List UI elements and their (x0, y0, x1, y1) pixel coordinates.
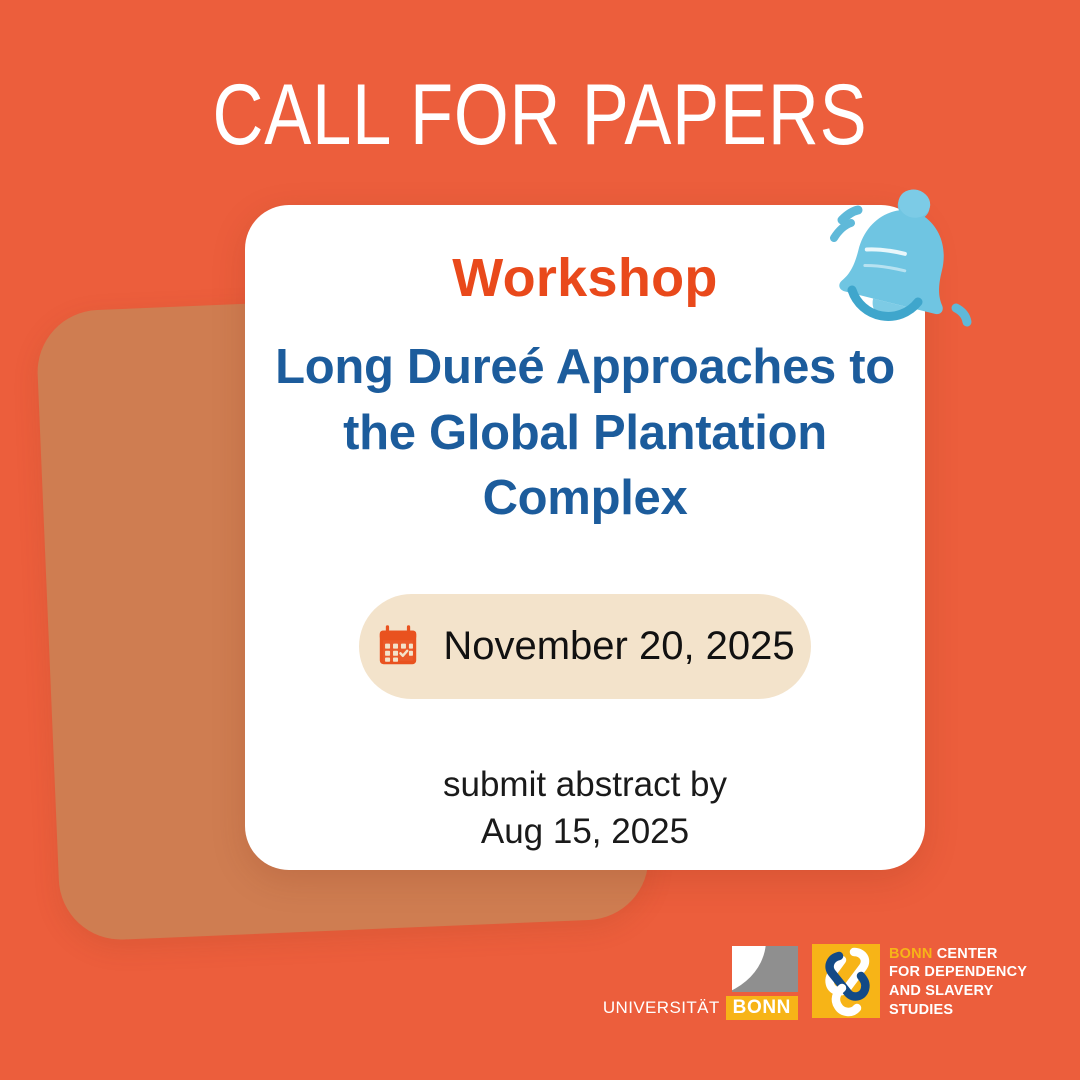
university-name-text: UNIVERSITÄT (603, 996, 726, 1020)
university-city-text: BONN (726, 996, 798, 1020)
workshop-title: Long Dureé Approaches to the Global Plan… (265, 335, 905, 532)
workshop-eyebrow: Workshop (452, 251, 717, 305)
logo-bar: UNIVERSITÄT BONN BONN CENTER FOR DEPENDE… (640, 934, 1020, 1020)
university-bonn-logo: UNIVERSITÄT BONN (640, 946, 798, 1020)
chain-links-icon (812, 944, 880, 1018)
bcdss-line-1: BONN CENTER (889, 945, 1027, 964)
date-badge: November 20, 2025 (359, 594, 811, 699)
poster-canvas: CALL FOR PAPERS Workshop Long Dureé Appr… (0, 0, 1080, 1080)
bcdss-line-2: FOR DEPENDENCY (889, 963, 1027, 982)
calendar-icon (375, 623, 421, 669)
bcdss-logo: BONN CENTER FOR DEPENDENCY AND SLAVERY S… (812, 944, 1027, 1020)
university-bonn-wordmark: UNIVERSITÄT BONN (603, 996, 798, 1020)
card-content: Workshop Long Dureé Approaches to the Gl… (245, 205, 925, 870)
bcdss-line-3: AND SLAVERY (889, 982, 1027, 1001)
submission-deadline: submit abstract by Aug 15, 2025 (443, 761, 727, 856)
bcdss-center-word: CENTER (933, 946, 998, 962)
page-title: CALL FOR PAPERS (97, 72, 983, 158)
event-date: November 20, 2025 (443, 624, 794, 669)
deadline-date: Aug 15, 2025 (443, 808, 727, 855)
bcdss-line-4: STUDIES (889, 1001, 1027, 1020)
bcdss-bonn-word: BONN (889, 946, 933, 962)
university-bonn-mark-icon (732, 946, 798, 992)
deadline-label: submit abstract by (443, 761, 727, 808)
bcdss-name-text: BONN CENTER FOR DEPENDENCY AND SLAVERY S… (889, 944, 1027, 1020)
